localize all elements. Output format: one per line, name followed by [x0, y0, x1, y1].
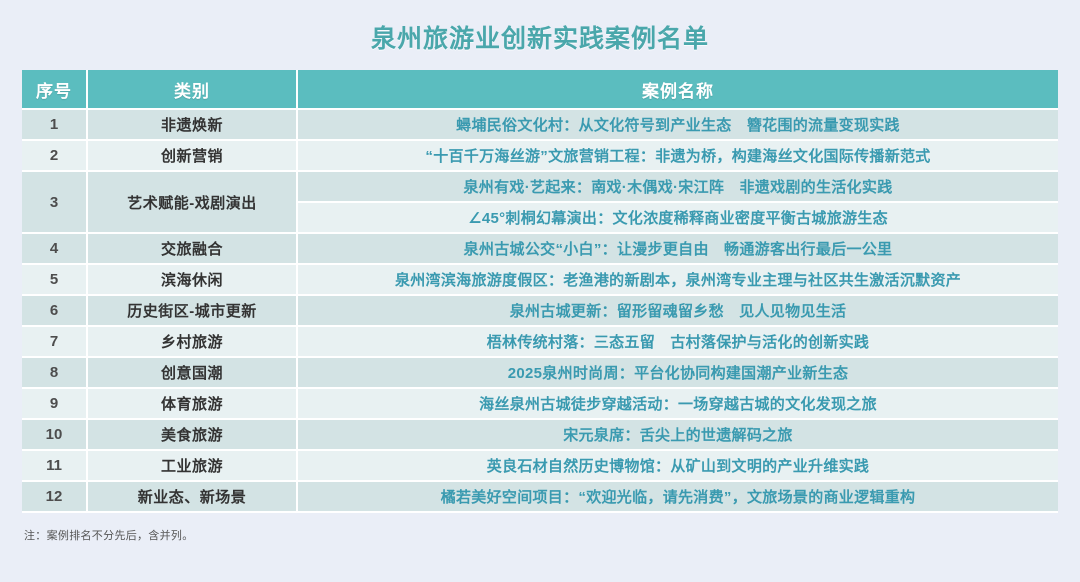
cell-index: 5: [22, 265, 88, 296]
cell-case-name: 英良石材自然历史博物馆：从矿山到文明的产业升维实践: [298, 451, 1058, 482]
cell-index: 11: [22, 451, 88, 482]
page-title: 泉州旅游业创新实践案例名单: [0, 0, 1080, 70]
cell-category: 体育旅游: [88, 389, 298, 420]
table-row: 12新业态、新场景橘若美好空间项目：“欢迎光临，请先消费”，文旅场景的商业逻辑重…: [22, 482, 1058, 513]
cell-category: 创意国潮: [88, 358, 298, 389]
table-body: 1非遗焕新蟳埔民俗文化村：从文化符号到产业生态 簪花围的流量变现实践2创新营销“…: [22, 110, 1058, 513]
cell-index: 9: [22, 389, 88, 420]
cell-category: 非遗焕新: [88, 110, 298, 141]
cell-category: 新业态、新场景: [88, 482, 298, 513]
cell-index: 10: [22, 420, 88, 451]
cell-case-name: 梧林传统村落：三态五留 古村落保护与活化的创新实践: [298, 327, 1058, 358]
table-header-row: 序号 类别 案例名称: [22, 70, 1058, 110]
case-list-table: 序号 类别 案例名称 1非遗焕新蟳埔民俗文化村：从文化符号到产业生态 簪花围的流…: [22, 70, 1058, 513]
table-row: 7乡村旅游梧林传统村落：三态五留 古村落保护与活化的创新实践: [22, 327, 1058, 358]
table-row: 8创意国潮2025泉州时尚周：平台化协同构建国潮产业新生态: [22, 358, 1058, 389]
cell-index: 1: [22, 110, 88, 141]
table-row: 5滨海休闲泉州湾滨海旅游度假区：老渔港的新剧本，泉州湾专业主理与社区共生激活沉默…: [22, 265, 1058, 296]
cell-index: 7: [22, 327, 88, 358]
table-row: 9体育旅游海丝泉州古城徒步穿越活动：一场穿越古城的文化发现之旅: [22, 389, 1058, 420]
table-row: 10美食旅游宋元泉席：舌尖上的世遗解码之旅: [22, 420, 1058, 451]
cell-category: 乡村旅游: [88, 327, 298, 358]
footnote: 注：案例排名不分先后，含并列。: [24, 527, 1080, 543]
table-row: 3艺术赋能-戏剧演出泉州有戏·艺起来：南戏·木偶戏·宋江阵 非遗戏剧的生活化实践: [22, 172, 1058, 203]
table-row: 2创新营销“十百千万海丝游”文旅营销工程：非遗为桥，构建海丝文化国际传播新范式: [22, 141, 1058, 172]
cell-case-name: 海丝泉州古城徒步穿越活动：一场穿越古城的文化发现之旅: [298, 389, 1058, 420]
cell-case-name: 泉州古城公交“小白”：让漫步更自由 畅通游客出行最后一公里: [298, 234, 1058, 265]
cell-category: 艺术赋能-戏剧演出: [88, 172, 298, 234]
cell-case-name: 宋元泉席：舌尖上的世遗解码之旅: [298, 420, 1058, 451]
cell-index: 4: [22, 234, 88, 265]
table-row: 4交旅融合泉州古城公交“小白”：让漫步更自由 畅通游客出行最后一公里: [22, 234, 1058, 265]
cell-case-name: “十百千万海丝游”文旅营销工程：非遗为桥，构建海丝文化国际传播新范式: [298, 141, 1058, 172]
table-row: 1非遗焕新蟳埔民俗文化村：从文化符号到产业生态 簪花围的流量变现实践: [22, 110, 1058, 141]
cell-case-name: 蟳埔民俗文化村：从文化符号到产业生态 簪花围的流量变现实践: [298, 110, 1058, 141]
table-row: 6历史街区-城市更新泉州古城更新：留形留魂留乡愁 见人见物见生活: [22, 296, 1058, 327]
table-container: 序号 类别 案例名称 1非遗焕新蟳埔民俗文化村：从文化符号到产业生态 簪花围的流…: [22, 70, 1058, 513]
cell-case-name: ∠45°刺桐幻幕演出：文化浓度稀释商业密度平衡古城旅游生态: [298, 203, 1058, 234]
table-row: 11工业旅游英良石材自然历史博物馆：从矿山到文明的产业升维实践: [22, 451, 1058, 482]
cell-case-name: 2025泉州时尚周：平台化协同构建国潮产业新生态: [298, 358, 1058, 389]
document-page: 泉州旅游业创新实践案例名单 序号 类别 案例名称 1非遗焕新蟳埔民俗文化村：从文…: [0, 0, 1080, 582]
cell-category: 工业旅游: [88, 451, 298, 482]
cell-index: 12: [22, 482, 88, 513]
column-header-index: 序号: [22, 70, 88, 110]
cell-category: 创新营销: [88, 141, 298, 172]
cell-case-name: 泉州古城更新：留形留魂留乡愁 见人见物见生活: [298, 296, 1058, 327]
cell-index: 6: [22, 296, 88, 327]
cell-category: 历史街区-城市更新: [88, 296, 298, 327]
column-header-case-name: 案例名称: [298, 70, 1058, 110]
cell-index: 2: [22, 141, 88, 172]
cell-index: 8: [22, 358, 88, 389]
cell-category: 滨海休闲: [88, 265, 298, 296]
cell-case-name: 橘若美好空间项目：“欢迎光临，请先消费”，文旅场景的商业逻辑重构: [298, 482, 1058, 513]
column-header-category: 类别: [88, 70, 298, 110]
cell-category: 美食旅游: [88, 420, 298, 451]
cell-case-name: 泉州有戏·艺起来：南戏·木偶戏·宋江阵 非遗戏剧的生活化实践: [298, 172, 1058, 203]
cell-index: 3: [22, 172, 88, 234]
table-header: 序号 类别 案例名称: [22, 70, 1058, 110]
cell-case-name: 泉州湾滨海旅游度假区：老渔港的新剧本，泉州湾专业主理与社区共生激活沉默资产: [298, 265, 1058, 296]
cell-category: 交旅融合: [88, 234, 298, 265]
